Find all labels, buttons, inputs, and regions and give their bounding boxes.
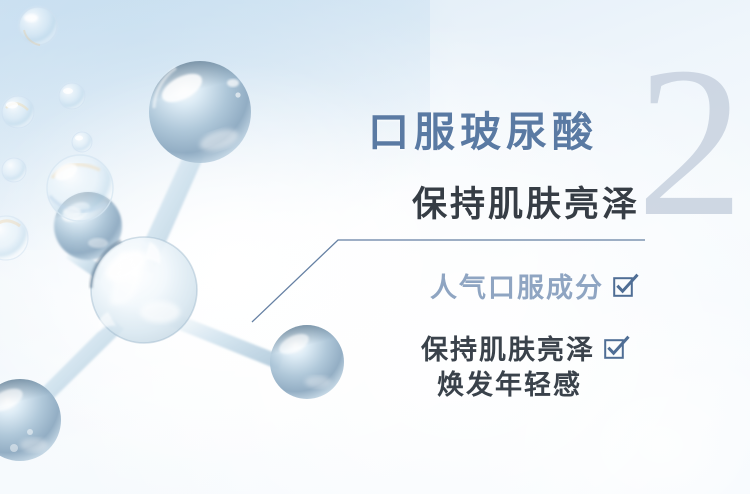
molecule-sphere-bottom-right [270, 325, 344, 399]
checkbox-checked-icon [613, 275, 635, 297]
molecule-sphere-top [149, 61, 251, 163]
feature-item-2-label: 保持肌肤亮泽 [421, 328, 595, 367]
page-subtitle: 保持肌肤亮泽 [412, 176, 640, 227]
page-title: 口服玻尿酸 [368, 98, 598, 158]
feature-item-2-sublabel: 焕发年轻感 [437, 363, 582, 402]
promo-banner: 2 口服玻尿酸 保持肌肤亮泽 人气口服成分 保持肌肤亮泽 焕发年轻感 [0, 0, 750, 494]
feature-item-1-label: 人气口服成分 [430, 266, 604, 305]
molecule-sphere-center [91, 237, 197, 343]
checkbox-checked-icon [604, 337, 626, 359]
feature-item-2: 保持肌肤亮泽 [421, 328, 626, 367]
feature-item-1: 人气口服成分 [430, 266, 635, 305]
badge-number: 2 [637, 34, 743, 249]
